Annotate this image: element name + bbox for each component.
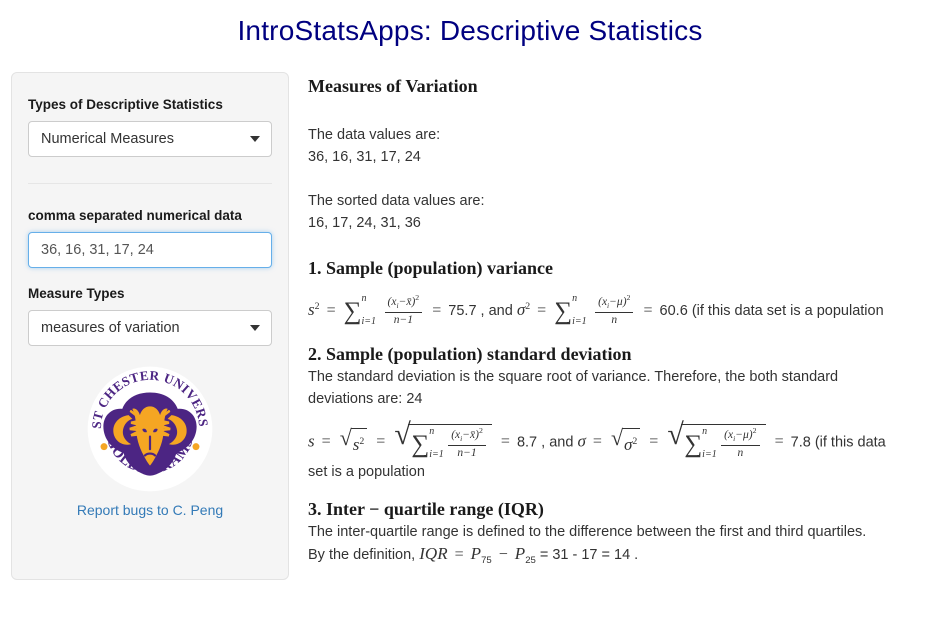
page-title: IntroStatsApps: Descriptive Statistics — [0, 0, 940, 48]
sorted-data-values-label: The sorted data values are: — [308, 190, 940, 212]
numerical-data-input[interactable] — [28, 232, 272, 268]
data-values-label: The data values are: — [308, 124, 940, 146]
section-2-body-line-1: The standard deviation is the square roo… — [308, 366, 940, 388]
measure-types-select-wrapper: measures of variation — [28, 310, 272, 346]
sample-variance-value: 75.7 — [448, 303, 476, 319]
sqrt-icon: √σ2 — [611, 428, 640, 457]
section-1-heading: 1. Sample (population) variance — [308, 256, 940, 280]
section-2-heading: 2. Sample (population) standard deviatio… — [308, 342, 940, 366]
population-variance-symbol: σ — [517, 300, 525, 319]
types-select-wrapper: Numerical Measures — [28, 121, 272, 157]
variance-mid-text: , and — [481, 303, 513, 319]
population-variance-value: 60.6 — [660, 303, 688, 319]
sample-sd-value: 8.7 — [517, 434, 537, 450]
types-of-descriptive-statistics-label: Types of Descriptive Statistics — [28, 95, 272, 114]
sidebar-divider — [28, 183, 272, 184]
sqrt-icon: √∑ni=1(xi−x̄)2n−1 — [394, 424, 492, 461]
iqr-formula-line: By the definition, IQR = P75 − P25 = 31 … — [308, 543, 940, 572]
main-content: Measures of Variation The data values ar… — [289, 72, 940, 572]
data-values: 36, 16, 31, 17, 24 — [308, 146, 940, 168]
measures-of-variation-heading: Measures of Variation — [308, 74, 940, 98]
measure-types-select[interactable]: measures of variation — [28, 310, 272, 346]
measure-types-label: Measure Types — [28, 284, 272, 303]
variance-formula: s2 = ∑ni=1 (xi−x̄)2 n−1 = 75.7 , and σ2 … — [308, 294, 940, 328]
population-variance-fraction: (xi−μ)2 n — [595, 293, 633, 327]
variance-tail-text: (if this data set is a population — [692, 303, 884, 319]
iqr-result: = 31 - 17 = 14 . — [540, 547, 638, 563]
summation-icon: ∑ni=1 — [344, 299, 362, 324]
section-2-body-line-2: deviations are: 24 — [308, 388, 940, 410]
summation-icon: ∑ni=1 — [684, 432, 702, 457]
sd-mid-text: , and — [541, 434, 573, 450]
sidebar-panel: Types of Descriptive Statistics Numerica… — [11, 72, 289, 580]
sd-tail-text-2: set is a population — [308, 461, 940, 483]
comma-separated-data-label: comma separated numerical data — [28, 206, 272, 225]
summation-icon: ∑ni=1 — [554, 299, 572, 324]
sd-tail-text: (if this data — [815, 434, 886, 450]
main-layout: Types of Descriptive Statistics Numerica… — [0, 72, 940, 580]
types-of-descriptive-statistics-select[interactable]: Numerical Measures — [28, 121, 272, 157]
section-3-heading: 3. Inter − quartile range (IQR) — [308, 497, 940, 521]
population-sd-value: 7.8 — [791, 434, 811, 450]
logo-block: WEST CHESTER UNIVERSITY GOLDEN RAMS — [28, 366, 272, 518]
west-chester-university-golden-rams-logo: WEST CHESTER UNIVERSITY GOLDEN RAMS — [87, 366, 213, 492]
section-3-body-line-1: The inter-quartile range is defined to t… — [308, 521, 940, 543]
sorted-data-values: 16, 17, 24, 31, 36 — [308, 212, 940, 234]
iqr-body-prefix: By the definition, — [308, 547, 415, 563]
sqrt-icon: √∑ni=1(xi−μ)2n — [667, 424, 765, 461]
sqrt-icon: √s2 — [340, 428, 368, 457]
summation-icon: ∑ni=1 — [411, 432, 429, 457]
sample-variance-fraction: (xi−x̄)2 n−1 — [385, 293, 423, 327]
sample-variance-symbol: s — [308, 300, 315, 319]
standard-deviation-formula: s = √s2 = √∑ni=1(xi−x̄)2n−1 = 8.7 , and … — [308, 424, 940, 461]
report-bugs-link[interactable]: Report bugs to C. Peng — [28, 502, 272, 518]
